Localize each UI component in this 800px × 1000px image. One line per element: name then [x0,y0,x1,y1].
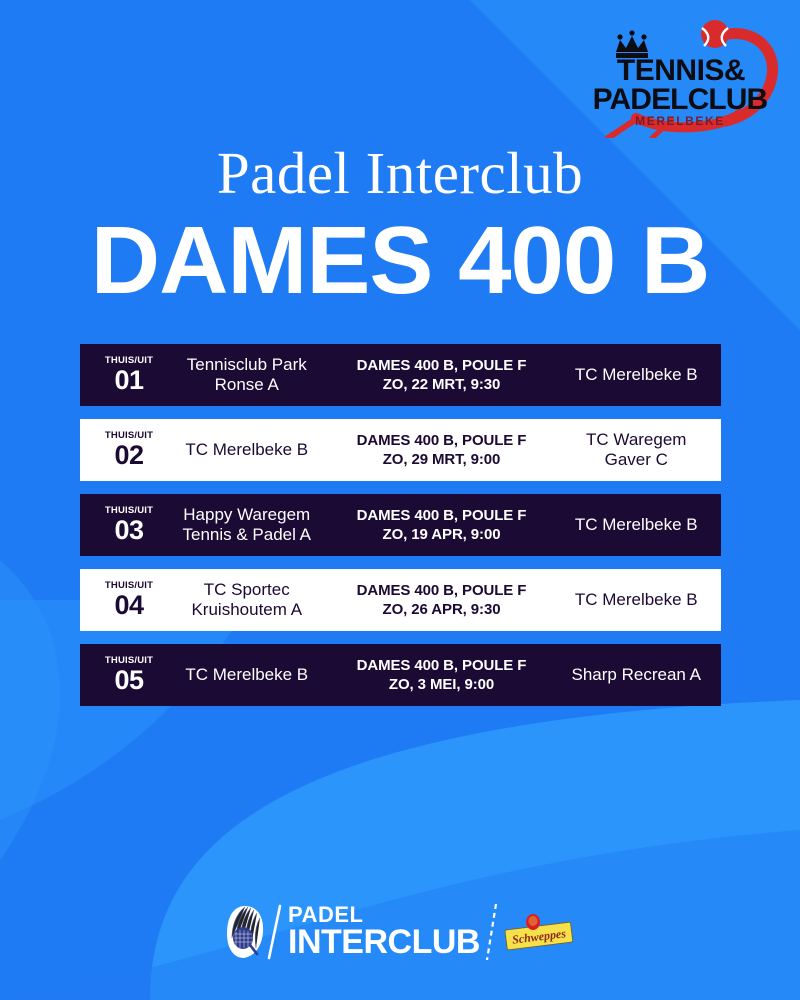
match-number: 04 [90,592,168,619]
match-number-cell: THUIS/UIT 04 [90,581,168,619]
match-number-cell: THUIS/UIT 02 [90,431,168,469]
match-datetime: ZO, 3 MEI, 9:00 [326,675,558,694]
padel-interclub-logo: PADEL INTERCLUB [224,904,480,960]
footer: PADEL INTERCLUB Schweppes [0,902,800,962]
table-row[interactable]: THUIS/UIT 04 TC Sportec Kruishoutem A DA… [80,569,721,631]
match-schedule: THUIS/UIT 01 Tennisclub Park Ronse A DAM… [80,344,721,719]
club-logo: TENNIS& PADELCLUB MERELBEKE [576,18,786,138]
match-info: DAMES 400 B, POULE F ZO, 26 APR, 9:30 [326,581,558,619]
match-info: DAMES 400 B, POULE F ZO, 19 APR, 9:00 [326,506,558,544]
match-number: 01 [90,367,168,394]
match-number: 02 [90,442,168,469]
match-info: DAMES 400 B, POULE F ZO, 29 MRT, 9:00 [326,431,558,469]
interclub-word: INTERCLUB [288,926,480,958]
club-logo-graphic: TENNIS& PADELCLUB MERELBEKE [576,18,786,138]
padel-racket-icon [224,904,266,960]
page-subtitle: Padel Interclub [0,140,800,206]
competition-name: DAMES 400 B, POULE F [326,506,558,525]
match-number: 03 [90,517,168,544]
away-team: TC Merelbeke B [558,590,716,610]
match-info: DAMES 400 B, POULE F ZO, 22 MRT, 9:30 [326,356,558,394]
schweppes-logo-icon: Schweppes [502,907,576,957]
away-team: Sharp Recrean A [558,665,716,685]
away-team: TC Merelbeke B [558,515,716,535]
away-team: TC Merelbeke B [558,365,716,385]
table-row[interactable]: THUIS/UIT 01 Tennisclub Park Ronse A DAM… [80,344,721,406]
padel-interclub-wordmark: PADEL INTERCLUB [288,905,480,958]
home-team: Tennisclub Park Ronse A [168,355,326,395]
club-logo-line3: MERELBEKE [635,114,725,128]
title-block: Padel Interclub DAMES 400 B [0,140,800,310]
match-info: DAMES 400 B, POULE F ZO, 3 MEI, 9:00 [326,656,558,694]
home-team: TC Sportec Kruishoutem A [168,580,326,620]
competition-name: DAMES 400 B, POULE F [326,581,558,600]
competition-name: DAMES 400 B, POULE F [326,356,558,375]
home-team: TC Merelbeke B [168,665,326,685]
match-number-cell: THUIS/UIT 01 [90,356,168,394]
dashed-divider-icon [480,902,504,962]
match-number-cell: THUIS/UIT 05 [90,656,168,694]
table-row[interactable]: THUIS/UIT 03 Happy Waregem Tennis & Pade… [80,494,721,556]
slash-divider-icon [264,904,286,960]
tennis-ball-icon [701,20,729,48]
match-datetime: ZO, 26 APR, 9:30 [326,600,558,619]
home-team: TC Merelbeke B [168,440,326,460]
match-datetime: ZO, 19 APR, 9:00 [326,525,558,544]
page-title: DAMES 400 B [0,212,800,310]
match-number: 05 [90,667,168,694]
home-team: Happy Waregem Tennis & Padel A [168,505,326,545]
table-row[interactable]: THUIS/UIT 02 TC Merelbeke B DAMES 400 B,… [80,419,721,481]
away-team: TC Waregem Gaver C [558,430,716,470]
table-row[interactable]: THUIS/UIT 05 TC Merelbeke B DAMES 400 B,… [80,644,721,706]
match-datetime: ZO, 29 MRT, 9:00 [326,450,558,469]
competition-name: DAMES 400 B, POULE F [326,656,558,675]
match-datetime: ZO, 22 MRT, 9:30 [326,375,558,394]
competition-name: DAMES 400 B, POULE F [326,431,558,450]
match-number-cell: THUIS/UIT 03 [90,506,168,544]
club-logo-line2: PADELCLUB [593,83,768,116]
